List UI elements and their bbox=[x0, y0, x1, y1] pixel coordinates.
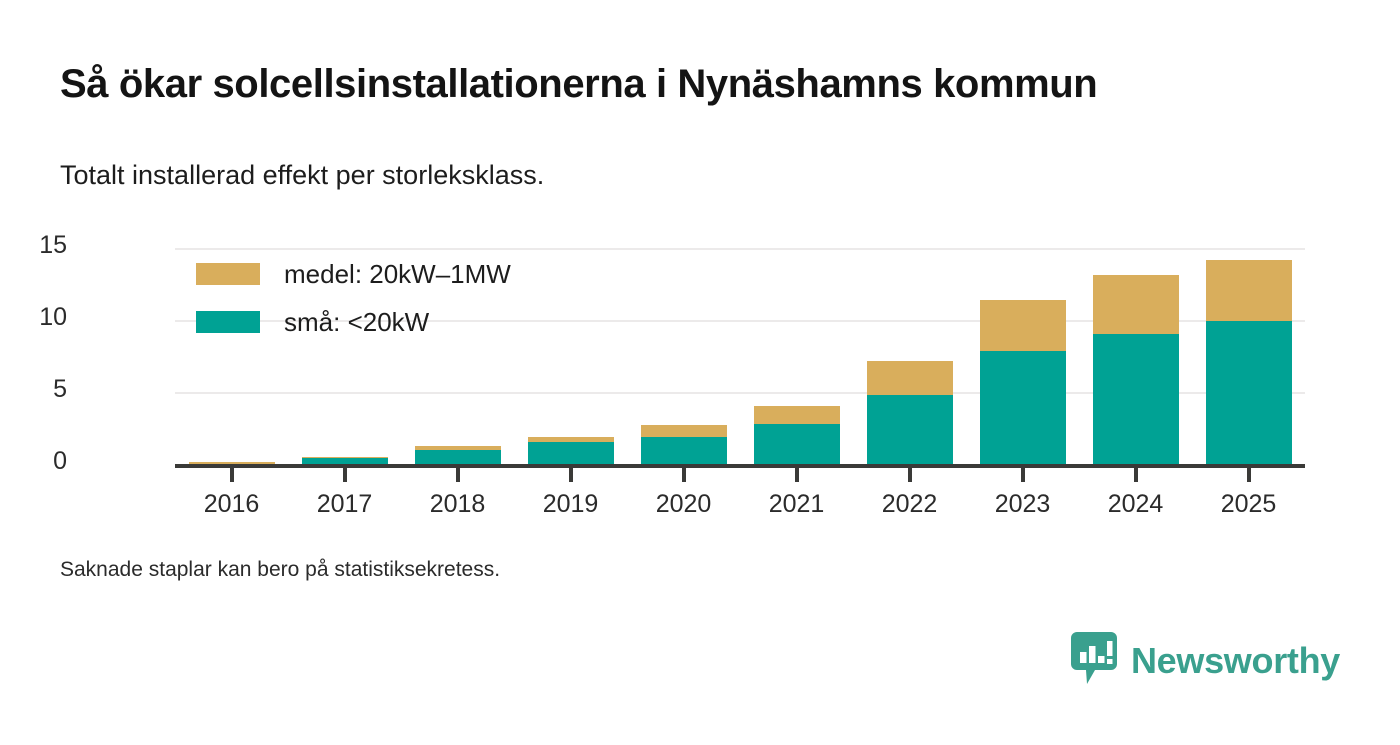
y-axis-tick-label: 0 bbox=[0, 447, 67, 476]
newsworthy-logo[interactable]: Newsworthy bbox=[1071, 632, 1340, 689]
x-axis-tick-label: 2019 bbox=[511, 490, 631, 519]
legend-item-small[interactable]: små: <20kW bbox=[196, 303, 511, 341]
x-axis-tick-label: 2020 bbox=[624, 490, 744, 519]
chart-footnote: Saknade staplar kan bero på statistiksek… bbox=[60, 558, 500, 582]
x-axis-tick-label: 2017 bbox=[285, 490, 405, 519]
y-axis-tick-label: 15 bbox=[0, 231, 67, 260]
legend-swatch-medium bbox=[196, 263, 260, 285]
newsworthy-bubble-icon bbox=[1071, 632, 1117, 689]
page-title: Så ökar solcellsinstallationerna i Nynäs… bbox=[60, 62, 1097, 107]
chart-subtitle: Totalt installerad effekt per storlekskl… bbox=[60, 160, 544, 191]
legend-item-medium[interactable]: medel: 20kW–1MW bbox=[196, 255, 511, 293]
legend-swatch-small bbox=[196, 311, 260, 333]
y-axis-tick-label: 5 bbox=[0, 375, 67, 404]
x-axis-tick-label: 2021 bbox=[737, 490, 857, 519]
x-axis-tick-label: 2023 bbox=[963, 490, 1083, 519]
legend-label-medium: medel: 20kW–1MW bbox=[284, 259, 511, 290]
x-axis-tick-label: 2024 bbox=[1076, 490, 1196, 519]
x-axis-tick-label: 2022 bbox=[850, 490, 970, 519]
x-axis-tick-label: 2018 bbox=[398, 490, 518, 519]
newsworthy-wordmark: Newsworthy bbox=[1131, 640, 1340, 682]
x-axis-tick-label: 2025 bbox=[1189, 490, 1309, 519]
y-axis-tick-label: 10 bbox=[0, 303, 67, 332]
chart-legend: medel: 20kW–1MW små: <20kW bbox=[196, 255, 511, 351]
x-axis-tick-label: 2016 bbox=[172, 490, 292, 519]
legend-label-small: små: <20kW bbox=[284, 307, 429, 338]
